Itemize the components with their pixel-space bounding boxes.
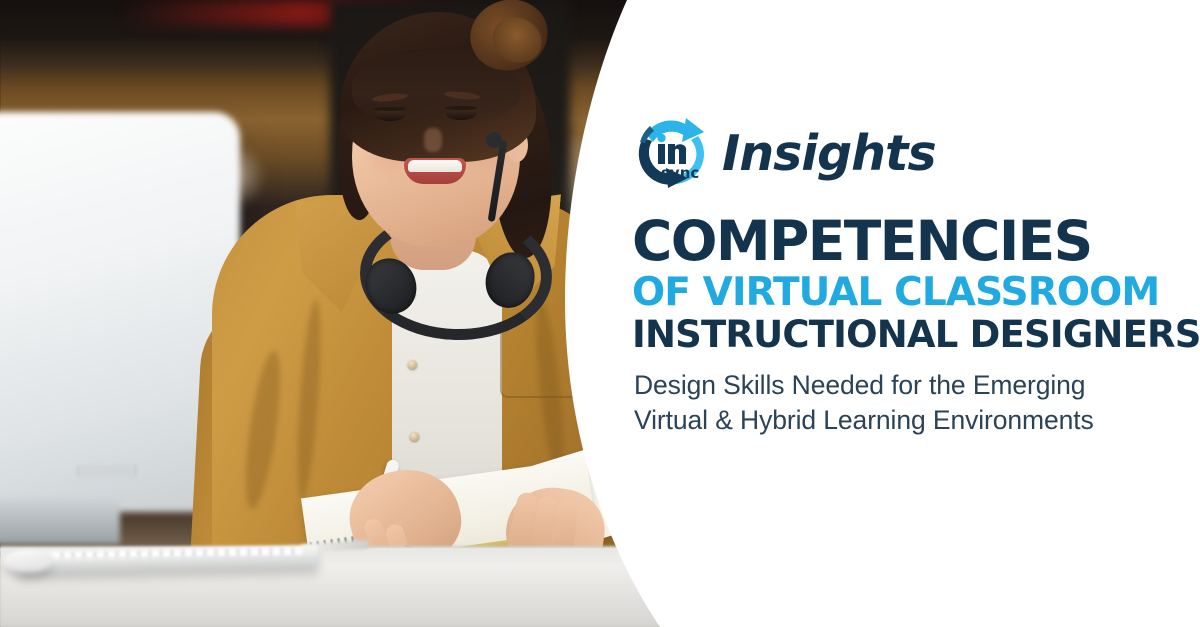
content-area: sync Insights COMPETENCIES OF VIRTUAL CL… (630, 0, 1190, 627)
headline-block: COMPETENCIES OF VIRTUAL CLASSROOM INSTRU… (632, 214, 1188, 353)
shirt-button (410, 432, 419, 441)
eyelash-right (445, 106, 477, 110)
brand-wordmark: Insights (722, 129, 936, 178)
svg-text:sync: sync (661, 164, 699, 182)
headline-line-2: OF VIRTUAL CLASSROOM (632, 273, 1188, 312)
eye-left (375, 110, 405, 121)
brand-logo-lockup[interactable]: sync Insights (630, 112, 936, 190)
person-figure (0, 0, 660, 627)
insights-promo-banner: sync Insights COMPETENCIES OF VIRTUAL CL… (0, 0, 1200, 627)
smiling-mouth (404, 158, 466, 184)
foreground-blur (0, 556, 660, 627)
headset-microphone-tip (486, 132, 502, 148)
nose (424, 128, 442, 152)
teeth (408, 160, 462, 172)
headline-line-3: INSTRUCTIONAL DESIGNERS (632, 316, 1188, 353)
shirt-button (408, 360, 417, 369)
insync-logo-icon: sync (630, 112, 714, 190)
headline-line-1: COMPETENCIES (632, 214, 1188, 269)
eye-right (446, 109, 476, 120)
eyelash-left (374, 107, 406, 111)
subheadline-line-1: Design Skills Needed for the Emerging (634, 368, 1194, 403)
subheadline-block: Design Skills Needed for the Emerging Vi… (634, 368, 1194, 438)
subheadline-line-2: Virtual & Hybrid Learning Environments (634, 403, 1194, 438)
hero-photo (0, 0, 660, 627)
